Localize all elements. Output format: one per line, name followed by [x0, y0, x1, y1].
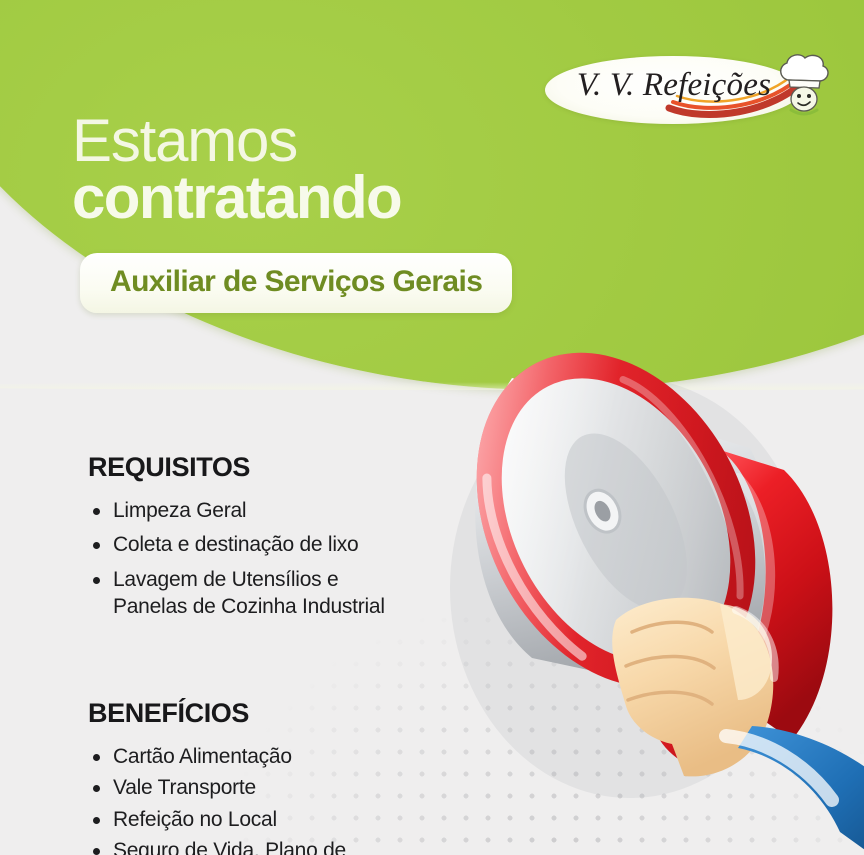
headline-line-1: Estamos — [72, 112, 592, 170]
list-item: Refeição no Local — [88, 806, 418, 833]
section-title-beneficios: BENEFÍCIOS — [88, 698, 418, 729]
logo-brand-name: V. V. Refeições — [563, 67, 785, 104]
chef-mascot-icon — [773, 50, 835, 120]
list-item: Cartão Alimentação — [88, 743, 418, 770]
job-posting-poster: V. V. Refeições Estamos contratando Auxi… — [0, 0, 864, 855]
requirements-list: Limpeza Geral Coleta e destinação de lix… — [88, 497, 418, 620]
list-item: Limpeza Geral — [88, 497, 418, 524]
list-item: Vale Transporte — [88, 774, 418, 801]
headline-line-2: contratando — [72, 168, 592, 228]
headline: Estamos contratando — [72, 112, 592, 228]
section-beneficios: BENEFÍCIOS Cartão Alimentação Vale Trans… — [88, 698, 418, 855]
section-title-requisitos: REQUISITOS — [88, 452, 418, 483]
section-requisitos: REQUISITOS Limpeza Geral Coleta e destin… — [88, 452, 418, 627]
list-item: Coleta e destinação de lixo — [88, 531, 418, 558]
benefits-list: Cartão Alimentação Vale Transporte Refei… — [88, 743, 418, 855]
list-item: Seguro de Vida, Plano de — [88, 837, 418, 855]
megaphone-illustration — [420, 228, 864, 855]
list-item: Lavagem de Utensílios e Panelas de Cozin… — [88, 566, 418, 621]
